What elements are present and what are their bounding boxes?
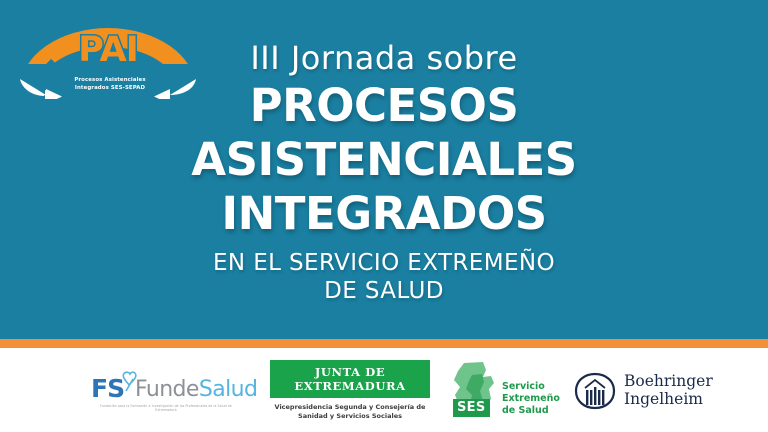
junta-subtitle-line-2: Sanidad y Servicios Sociales	[266, 412, 434, 421]
ses-badge: SES	[453, 399, 490, 417]
junta-subtitle-line-1: Vicepresidencia Segunda y Consejería de	[266, 403, 434, 412]
boehringer-word-line-1: Boehringer	[624, 372, 713, 390]
headline-line-3: INTEGRADOS	[160, 188, 608, 240]
logo-junta-de-extremadura: JUNTA DE EXTREMADURA Vicepresidencia Seg…	[264, 348, 436, 432]
headline-subtitle-line-1: EN EL SERVICIO EXTREMEÑO	[160, 249, 608, 277]
pai-tagline-line-2: Integrados SES-SEPAD	[64, 85, 156, 93]
headline-subtitle: EN EL SERVICIO EXTREMEÑO DE SALUD	[160, 249, 608, 305]
pai-tagline-line-1: Procesos Asistenciales	[64, 77, 156, 85]
headline-subtitle-line-2: DE SALUD	[160, 277, 608, 305]
fundesalud-wordmark: FundeSalud	[135, 377, 257, 402]
pai-arrow-left-icon	[19, 77, 65, 99]
headline-kicker: III Jornada sobre	[160, 38, 608, 78]
junta-title-bar: JUNTA DE EXTREMADURA	[270, 360, 430, 398]
fundesalud-word-salud: Salud	[199, 377, 257, 402]
logo-boehringer-ingelheim: Boehringer Ingelheim	[570, 348, 720, 432]
event-poster: PAI Procesos Asistenciales Integrados SE…	[0, 0, 768, 432]
headline-line-1: PROCESOS	[160, 80, 608, 132]
junta-subtitle: Vicepresidencia Segunda y Consejería de …	[266, 403, 434, 421]
boehringer-wordmark: Boehringer Ingelheim	[624, 372, 713, 408]
logo-fundesalud: FS FundeSalud Fundación para la Formació…	[62, 348, 252, 432]
ses-word-line-1: Servicio	[502, 381, 560, 393]
boehringer-stadttor-icon	[574, 372, 616, 410]
ses-word-line-3: de Salud	[502, 405, 560, 417]
headline-line-2: ASISTENCIALES	[160, 134, 608, 186]
pai-tagline: Procesos Asistenciales Integrados SES-SE…	[64, 77, 156, 92]
fundesalud-word-funde: Funde	[135, 377, 199, 402]
ses-wordmark: Servicio Extremeño de Salud	[502, 381, 560, 417]
headline-block: III Jornada sobre PROCESOS ASISTENCIALES…	[160, 38, 608, 305]
ses-word-line-2: Extremeño	[502, 393, 560, 405]
orange-divider	[0, 339, 768, 348]
fundesalud-tagline: Fundación para la Formación e Investigac…	[91, 404, 241, 412]
boehringer-word-line-2: Ingelheim	[624, 390, 713, 408]
logo-servicio-extremeno-de-salud: SES Servicio Extremeño de Salud	[448, 348, 580, 432]
